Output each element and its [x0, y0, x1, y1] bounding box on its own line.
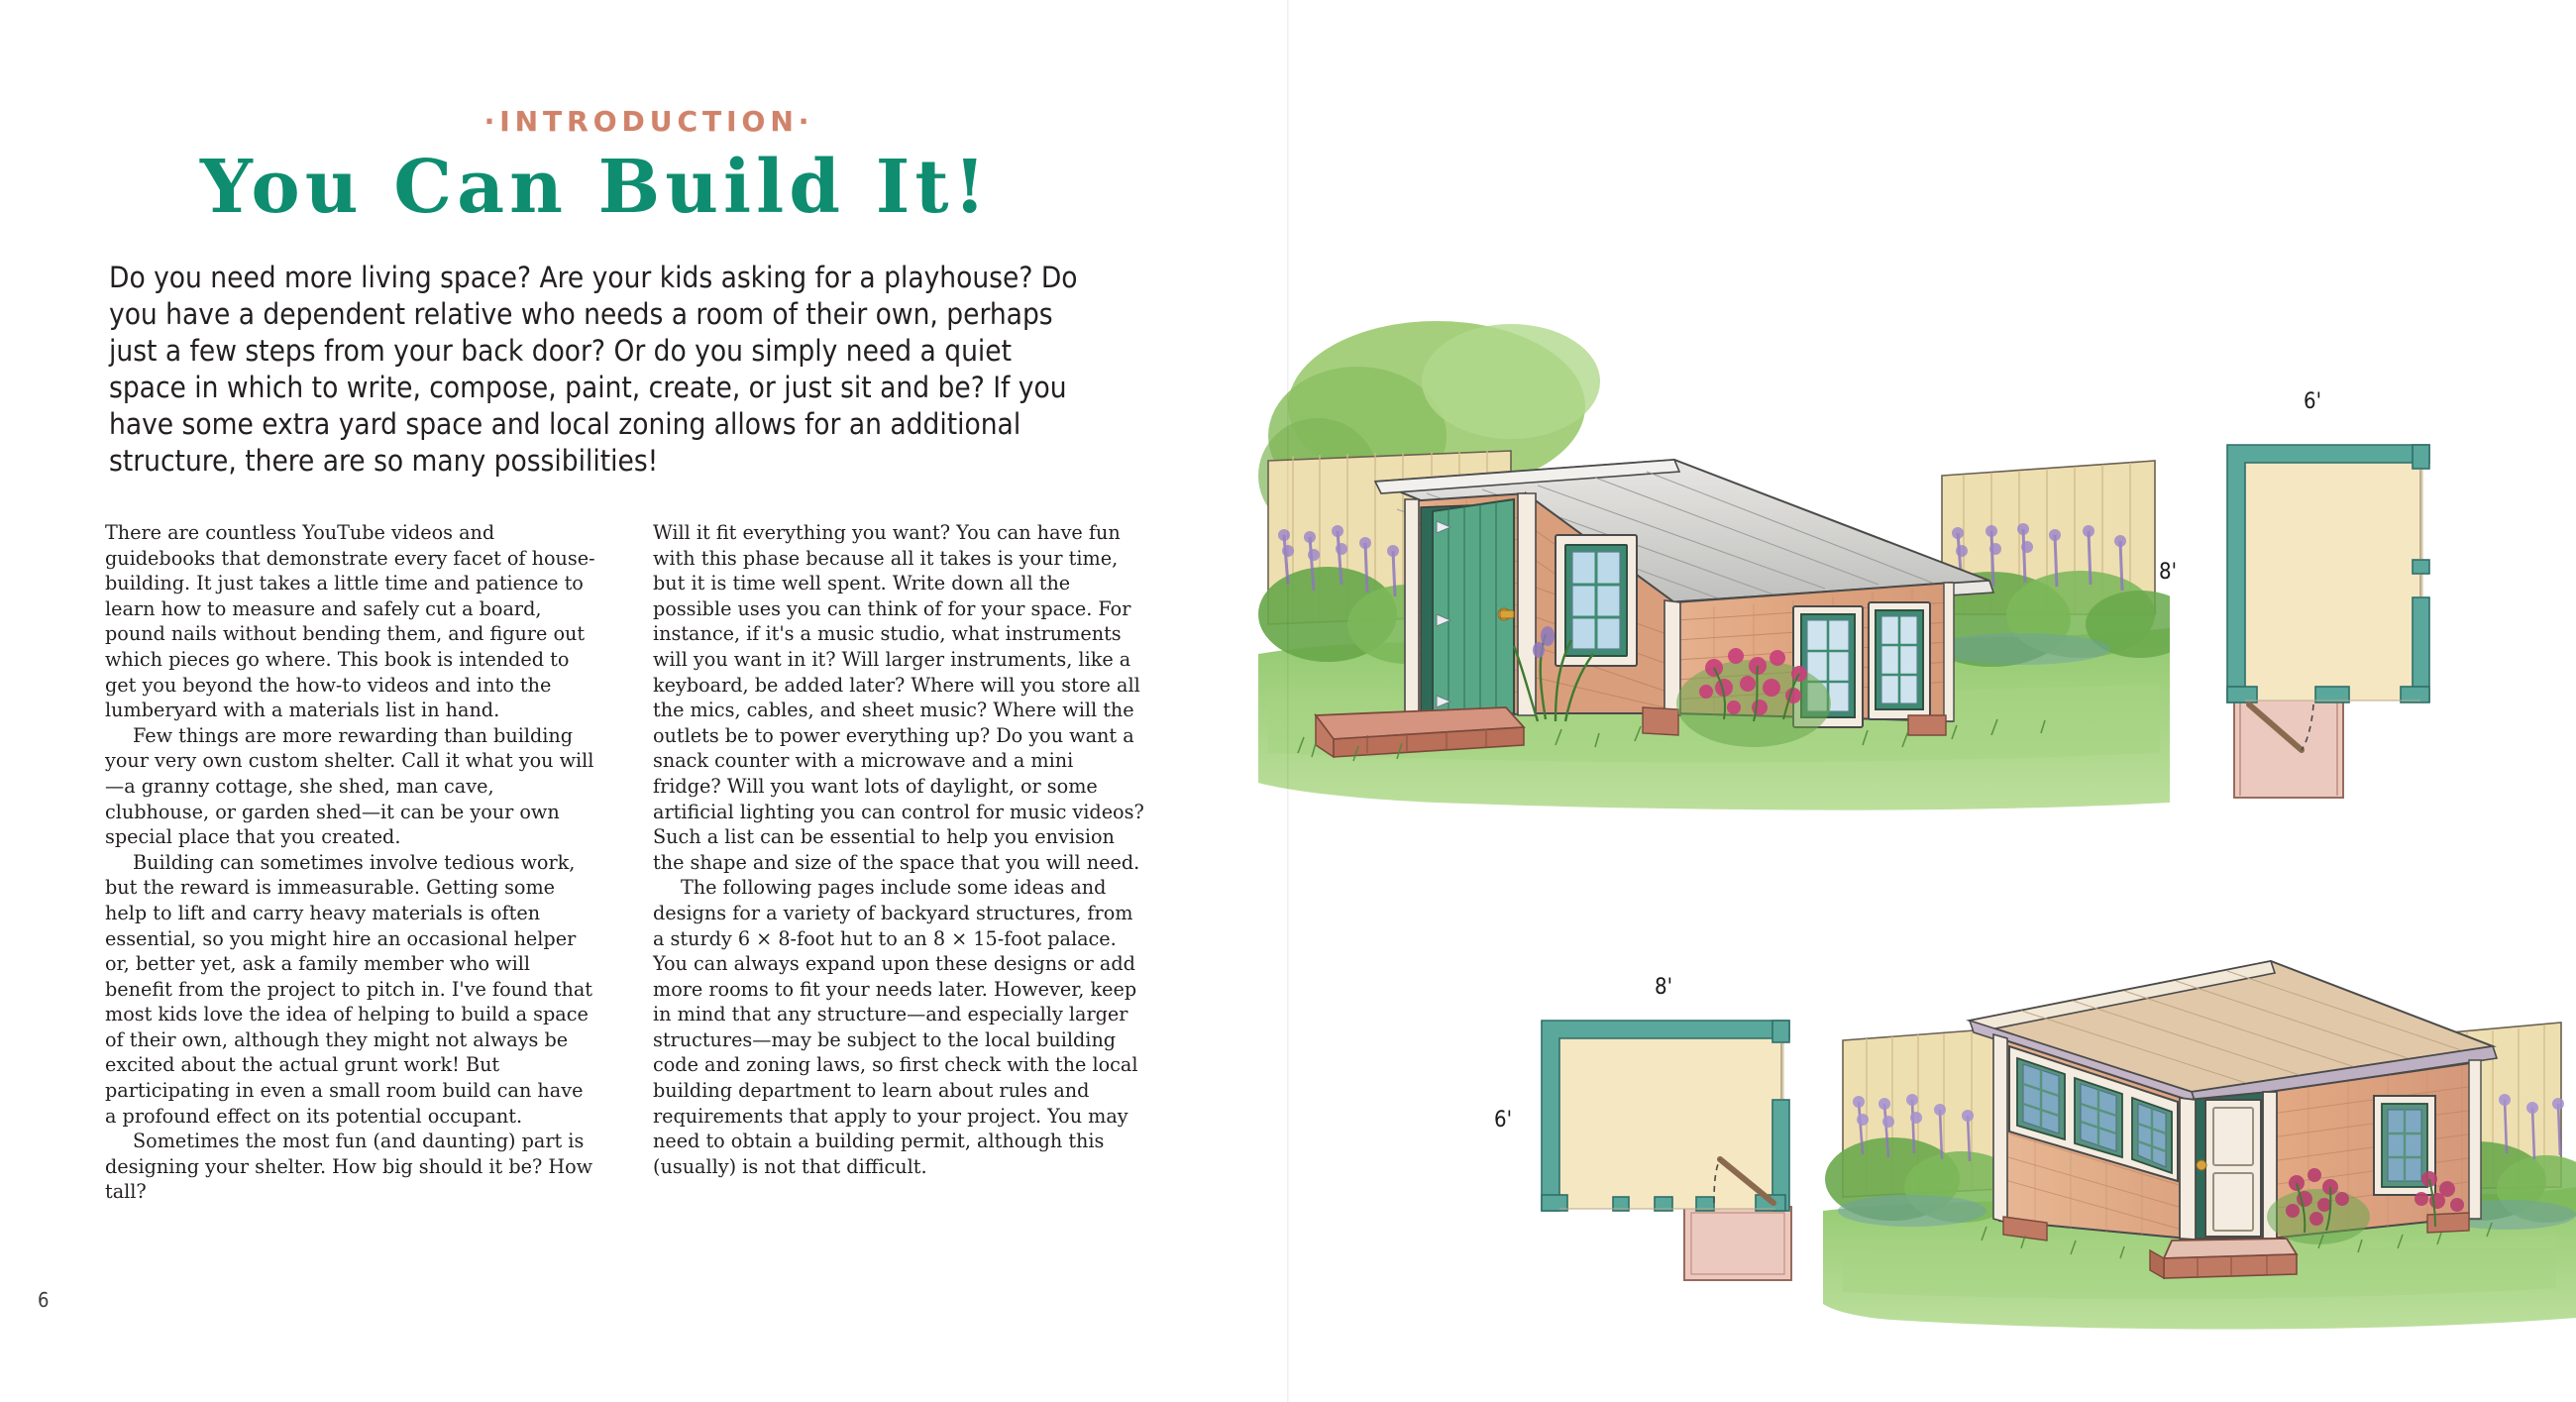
illustration-floorplan-top: 6' 8': [2195, 421, 2442, 808]
dimension-label-width: 8': [1655, 975, 1672, 1000]
body-column-left: There are countless YouTube videos and g…: [105, 520, 597, 1205]
dimension-label-depth: 8': [2159, 560, 2177, 585]
illustration-floorplan-bottom: 8' 6': [1526, 1009, 1813, 1281]
paragraph: Few things are more rewarding than build…: [105, 723, 597, 850]
illustration-variation-shed: [1823, 951, 2576, 1348]
classic-shed-drawing: [1258, 287, 2170, 822]
paragraph: Building can sometimes involve tedious w…: [105, 850, 597, 1130]
paragraph: The following pages include some ideas a…: [653, 875, 1145, 1179]
illustration-classic-shed: [1258, 287, 2170, 822]
dimension-label-depth: 6': [1494, 1108, 1512, 1132]
variation-shed-drawing: [1823, 951, 2576, 1348]
page-gutter: [1287, 0, 1289, 1402]
folio-page-number: 6: [38, 1288, 49, 1312]
paragraph: There are countless YouTube videos and g…: [105, 520, 597, 723]
body-column-right: Will it fit everything you want? You can…: [653, 520, 1145, 1179]
book-spread: ·INTRODUCTION· You Can Build It! Do you …: [0, 0, 2576, 1402]
dimension-label-width: 6': [2304, 389, 2321, 414]
left-page: ·INTRODUCTION· You Can Build It! Do you …: [0, 0, 1288, 1402]
page-title: You Can Build It!: [95, 145, 1096, 230]
paragraph: Will it fit everything you want? You can…: [653, 520, 1145, 875]
introduction-kicker: ·INTRODUCTION·: [451, 105, 847, 138]
lede-paragraph: Do you need more living space? Are your …: [109, 260, 1090, 480]
paragraph: Sometimes the most fun (and daunting) pa…: [105, 1129, 597, 1205]
floorplan-6x8: [2195, 421, 2442, 808]
body-columns: There are countless YouTube videos and g…: [105, 520, 1145, 1243]
floorplan-8x6: [1526, 1009, 1813, 1281]
